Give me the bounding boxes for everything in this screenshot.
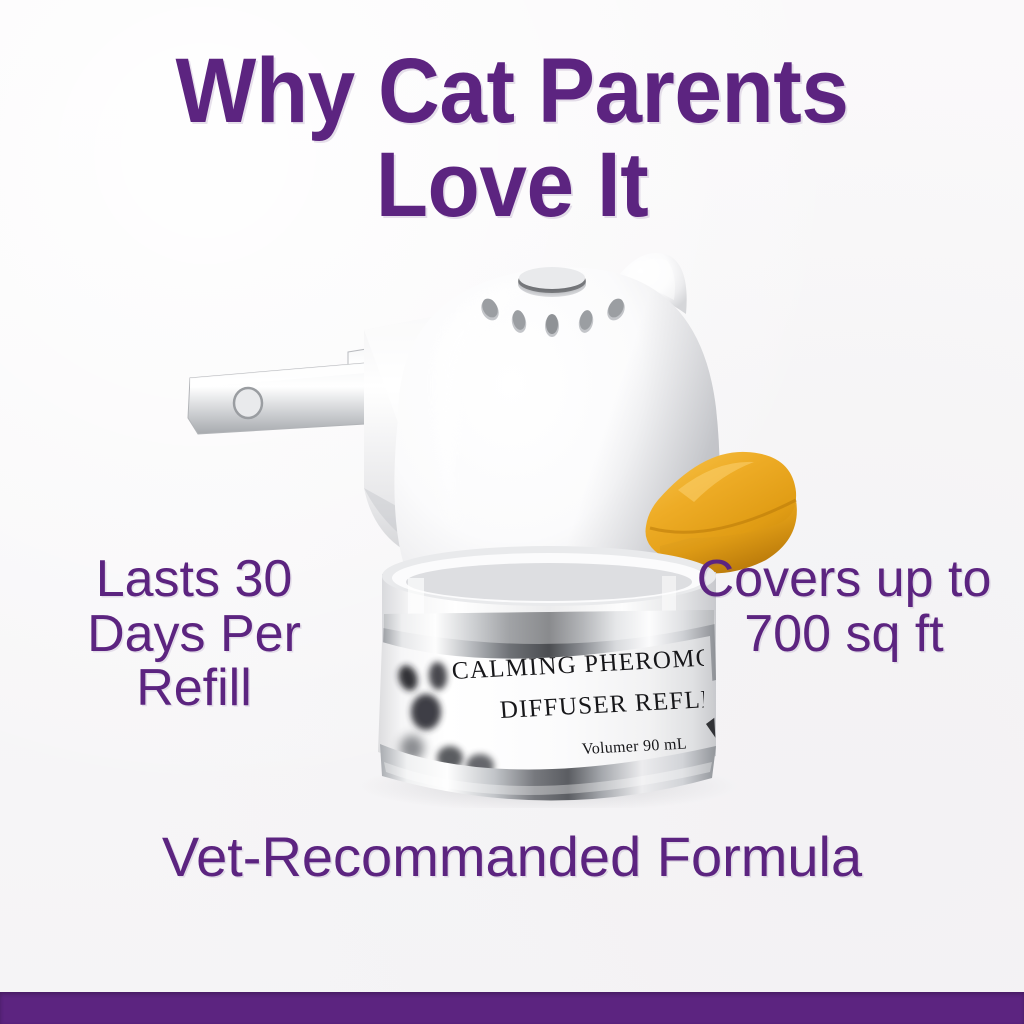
benefit-lasts-30-days: Lasts 30 Days Per Refill xyxy=(44,552,344,716)
footer-accent-bar xyxy=(0,992,1024,1024)
benefit-coverage-area: Covers up to 700 sq ft xyxy=(694,552,994,661)
benefit-vet-recommended: Vet-Recommanded Formula xyxy=(112,828,912,887)
page-title-line-1: Why Cat Parents xyxy=(36,48,988,135)
product-image: CALMING PHEROMO DIFFUSER REFLL Volumer 9… xyxy=(150,238,850,808)
page-title-line-2: Love It xyxy=(36,142,988,229)
paw-smudge xyxy=(411,694,441,730)
promo-canvas: Why Cat Parents Love It xyxy=(0,0,1024,1024)
